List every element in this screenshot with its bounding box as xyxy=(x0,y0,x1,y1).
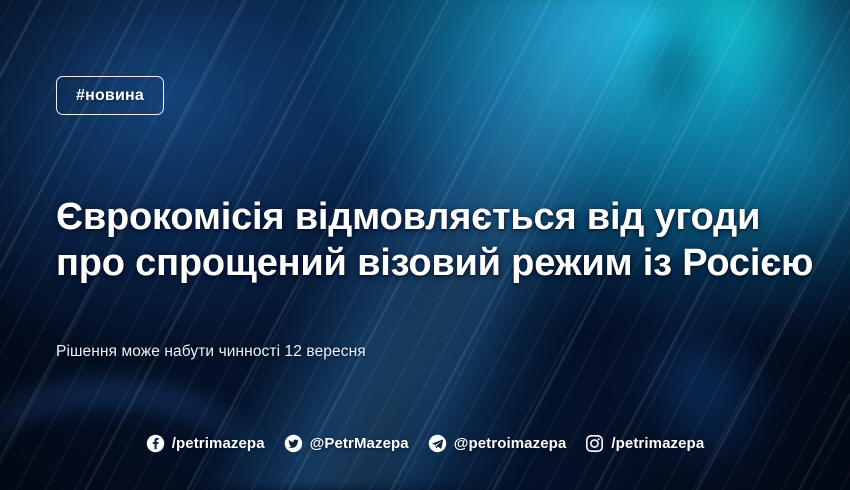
social-link-facebook[interactable]: /petrimazepa xyxy=(146,434,265,453)
headline-line-1: Єврокомісія відмовляється від угоди xyxy=(56,194,716,240)
social-link-twitter[interactable]: @PetrMazepa xyxy=(284,434,409,453)
facebook-icon xyxy=(146,434,165,453)
social-link-instagram[interactable]: /petrimazepa xyxy=(585,434,704,453)
category-badge[interactable]: #новина xyxy=(56,76,164,115)
telegram-icon xyxy=(428,434,447,453)
social-handle-twitter: @PetrMazepa xyxy=(310,435,409,452)
social-links-row: /petrimazepa @PetrMazepa xyxy=(0,434,850,453)
social-link-telegram[interactable]: @petroimazepa xyxy=(428,434,567,453)
card-content: #новина Єврокомісія відмовляється від уг… xyxy=(0,0,850,490)
twitter-icon xyxy=(284,434,303,453)
social-handle-instagram: /petrimazepa xyxy=(611,435,704,452)
instagram-icon xyxy=(585,434,604,453)
news-card: #новина Єврокомісія відмовляється від уг… xyxy=(0,0,850,490)
social-handle-facebook: /petrimazepa xyxy=(172,435,265,452)
social-handle-telegram: @petroimazepa xyxy=(454,435,567,452)
subtitle: Рішення може набути чинності 12 вересня xyxy=(56,343,366,361)
headline-line-2: про спрощений візовий режим із Росією xyxy=(56,240,716,286)
page-title: Єврокомісія відмовляється від угоди про … xyxy=(56,194,716,286)
